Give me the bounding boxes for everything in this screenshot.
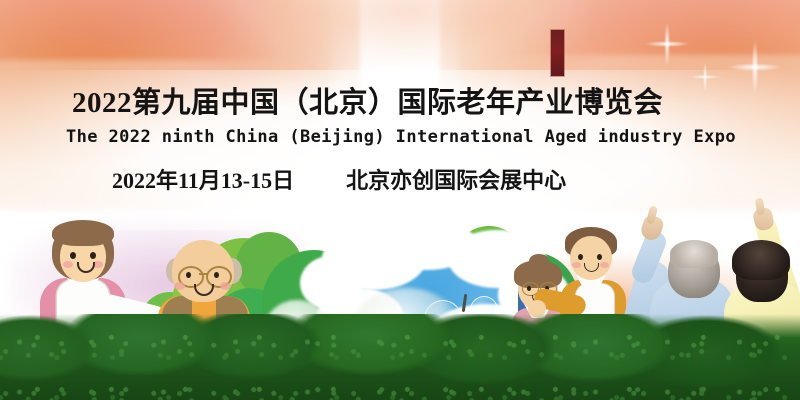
photo-woman-hair (732, 240, 790, 280)
sparkle-icon (728, 40, 782, 94)
page-title-chinese: 2022第九届中国（北京）国际老年产业博览会 (72, 86, 663, 120)
foliage-texture (0, 328, 790, 400)
caregiver-woman-cheek (63, 261, 73, 268)
sparkle-icon (690, 62, 720, 92)
expo-banner: 2022第九届中国（北京）国际老年产业博览会 The 2022 ninth Ch… (0, 0, 800, 400)
event-date: 2022年11月13-15日 (112, 167, 294, 195)
elderly-woman-eye (527, 286, 531, 291)
sparkle-icon (645, 22, 689, 66)
elderly-man-cheek (174, 282, 185, 290)
event-venue: 北京亦创国际会展中心 (346, 167, 566, 195)
photo-woman-pointing-finger (755, 198, 765, 216)
page-title-english: The 2022 ninth China (Beijing) Internati… (66, 126, 736, 148)
elderly-man-eye (214, 272, 219, 278)
caregiver2-eye (597, 254, 602, 260)
elderly-man-cheek (220, 282, 231, 290)
event-meta-row: 2022年11月13-15日 北京亦创国际会展中心 (112, 167, 566, 195)
caregiver-woman-eye (70, 252, 76, 259)
caregiver2-head (570, 236, 612, 280)
seal-icon (551, 30, 564, 76)
photo-man-hair (670, 240, 718, 268)
caregiver2-eye (578, 254, 583, 260)
eyeglasses-bridge (199, 273, 208, 275)
caregiver2-cheek (572, 262, 581, 268)
illustration-scene (0, 196, 800, 400)
caregiver2-cheek (600, 262, 609, 268)
elderly-man-eye (186, 272, 191, 278)
caregiver-woman-fringe (52, 220, 114, 246)
caregiver-woman-eye (90, 252, 96, 259)
foliage-hedge (0, 314, 800, 400)
watercolor-wash-top-center (230, 0, 590, 65)
